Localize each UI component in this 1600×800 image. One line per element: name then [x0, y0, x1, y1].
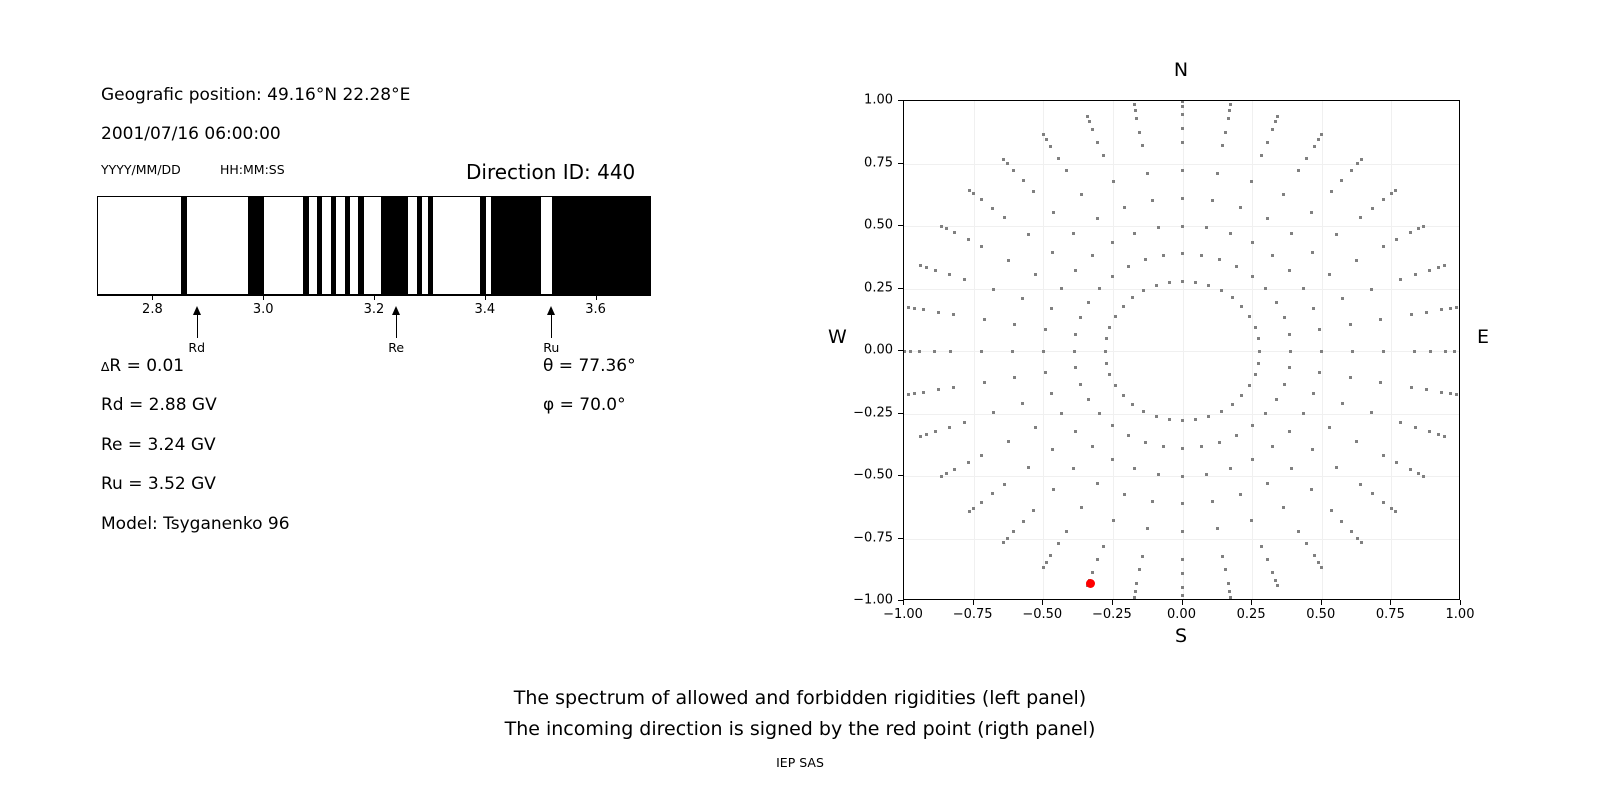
direction-point	[1310, 211, 1313, 214]
direction-point	[922, 391, 925, 394]
direction-point	[963, 278, 966, 281]
direction-point	[1340, 179, 1343, 182]
direction-map-x-tick-label: 1.00	[1446, 607, 1475, 622]
direction-point	[1355, 440, 1358, 443]
direction-point	[1220, 410, 1223, 413]
direction-point	[983, 318, 986, 321]
direction-point	[1181, 475, 1184, 478]
compass-label-north: N	[1174, 59, 1188, 81]
direction-point	[1108, 326, 1111, 329]
direction-point	[1034, 426, 1037, 429]
direction-point	[1318, 328, 1321, 331]
direction-point	[922, 308, 925, 311]
direction-point	[1350, 530, 1353, 533]
direction-point	[1449, 392, 1452, 395]
direction-map-y-tick-label: −1.00	[833, 593, 893, 608]
direction-point	[1021, 297, 1024, 300]
arrow-head-icon	[193, 306, 201, 315]
direction-point	[1181, 558, 1184, 561]
direction-map-y-tick	[898, 538, 903, 539]
direction-point	[1266, 558, 1269, 561]
direction-point	[918, 350, 921, 353]
direction-point	[1360, 541, 1363, 544]
direction-point	[1318, 371, 1321, 374]
direction-point	[1449, 307, 1452, 310]
direction-point	[1274, 120, 1277, 123]
direction-point	[952, 313, 955, 316]
direction-point	[1013, 323, 1016, 326]
direction-point	[992, 411, 995, 414]
direction-point	[1240, 394, 1243, 397]
direction-point	[1320, 133, 1323, 136]
direction-point	[1074, 430, 1077, 433]
direction-point	[1021, 402, 1024, 405]
direction-point	[1275, 301, 1278, 304]
direction-point	[1151, 500, 1154, 503]
direction-point	[1229, 467, 1232, 470]
direction-point	[1194, 281, 1197, 284]
direction-point	[1049, 554, 1052, 557]
direction-point	[1455, 393, 1458, 396]
direction-map-y-tick	[898, 100, 903, 101]
marker-label-re: Re	[388, 340, 404, 355]
direction-point	[1155, 284, 1158, 287]
direction-point	[1162, 254, 1165, 257]
direction-map-x-tick-label: −0.75	[953, 607, 993, 622]
direction-point	[1305, 157, 1308, 160]
direction-point	[919, 435, 922, 438]
direction-point	[1045, 561, 1048, 564]
direction-point	[1288, 333, 1291, 336]
direction-point	[1111, 275, 1114, 278]
direction-point	[1312, 392, 1315, 395]
direction-point	[919, 264, 922, 267]
compass-label-east: E	[1477, 326, 1489, 348]
direction-point	[1141, 555, 1144, 558]
direction-point	[1382, 501, 1385, 504]
direction-point	[1181, 100, 1184, 103]
direction-point	[980, 245, 983, 248]
direction-point	[1271, 571, 1274, 574]
direction-point	[1330, 509, 1333, 512]
direction-point	[1290, 467, 1293, 470]
direction-point	[1251, 458, 1254, 461]
direction-point	[1091, 128, 1094, 131]
direction-point	[1288, 430, 1291, 433]
direction-point	[1194, 418, 1197, 421]
direction-point	[1370, 411, 1373, 414]
direction-point	[1123, 206, 1126, 209]
direction-point	[1138, 568, 1141, 571]
direction-point	[1050, 307, 1053, 310]
direction-map-x-tick	[1390, 600, 1391, 605]
compass-label-south: S	[1175, 625, 1187, 647]
direction-point	[1440, 391, 1443, 394]
direction-point	[1274, 579, 1277, 582]
direction-point	[980, 501, 983, 504]
direction-point	[968, 510, 971, 513]
direction-point	[1350, 169, 1353, 172]
direction-point	[1181, 572, 1184, 575]
direction-point	[1437, 266, 1440, 269]
direction-point	[1168, 418, 1171, 421]
direction-point	[1251, 241, 1254, 244]
direction-point	[1410, 313, 1413, 316]
direction-point	[1105, 337, 1108, 340]
marker-label-rd: Rd	[188, 340, 205, 355]
direction-point	[1034, 273, 1037, 276]
direction-point	[1302, 287, 1305, 290]
direction-point	[1425, 388, 1428, 391]
direction-point	[1133, 467, 1136, 470]
direction-point	[1181, 105, 1184, 108]
direction-point	[1049, 145, 1052, 148]
direction-point	[1181, 252, 1184, 255]
forbidden-band	[331, 197, 337, 294]
vertical-gridline	[1391, 101, 1392, 599]
geographic-position-text: Geografic position: 49.16°N 22.28°E	[101, 85, 410, 105]
footer-text: IEP SAS	[0, 755, 1600, 770]
spectrum-x-tick	[485, 295, 486, 300]
direction-point	[925, 266, 928, 269]
direction-point	[1248, 384, 1251, 387]
param-model: Model: Tsyganenko 96	[101, 514, 290, 534]
spectrum-x-tick	[152, 295, 153, 300]
direction-point	[1181, 225, 1184, 228]
direction-point	[949, 350, 952, 353]
direction-point	[1428, 269, 1431, 272]
direction-point	[1271, 128, 1274, 131]
direction-point	[1074, 366, 1077, 369]
direction-point	[1248, 315, 1251, 318]
spectrum-x-tick-label: 3.4	[474, 302, 495, 317]
direction-point	[903, 350, 906, 353]
direction-point	[1429, 350, 1432, 353]
direction-point	[913, 392, 916, 395]
direction-point	[1044, 328, 1047, 331]
vertical-gridline	[974, 101, 975, 599]
direction-point	[1114, 315, 1117, 318]
figure-canvas: Geografic position: 49.16°N 22.28°E 2001…	[0, 0, 1600, 800]
direction-point	[1032, 190, 1035, 193]
direction-point	[934, 269, 937, 272]
direction-point	[1207, 415, 1210, 418]
direction-point	[1134, 109, 1137, 112]
direction-point	[1260, 545, 1263, 548]
direction-map-y-tick	[898, 475, 903, 476]
direction-point	[1002, 158, 1005, 161]
arrow-head-icon	[547, 306, 555, 315]
direction-point	[1341, 402, 1344, 405]
direction-map-x-tick	[903, 600, 904, 605]
direction-point	[1382, 245, 1385, 248]
direction-point	[1114, 384, 1117, 387]
direction-point	[1276, 584, 1279, 587]
direction-map-y-tick-label: −0.25	[833, 405, 893, 420]
direction-map-x-tick-label: 0.50	[1306, 607, 1335, 622]
direction-point	[1251, 275, 1254, 278]
direction-point	[1320, 566, 1323, 569]
direction-point	[1335, 466, 1338, 469]
param-theta: θ = 77.36°	[543, 356, 636, 376]
direction-point	[1127, 265, 1130, 268]
direction-point	[948, 273, 951, 276]
direction-point	[1453, 350, 1456, 353]
direction-point	[1422, 475, 1425, 478]
direction-point	[907, 306, 910, 309]
direction-point	[1371, 207, 1374, 210]
direction-point	[1032, 509, 1035, 512]
direction-point	[1359, 216, 1362, 219]
direction-map-x-tick	[1321, 600, 1322, 605]
direction-point	[1356, 162, 1359, 165]
direction-point	[1135, 582, 1138, 585]
direction-point	[1328, 426, 1331, 429]
direction-point	[1258, 350, 1261, 353]
direction-map-y-tick-label: 0.25	[833, 280, 893, 295]
direction-point	[1012, 169, 1015, 172]
direction-point	[1313, 145, 1316, 148]
direction-map-x-tick-label: 0.75	[1376, 607, 1405, 622]
direction-point	[1200, 254, 1203, 257]
direction-point	[1111, 458, 1114, 461]
direction-point	[1096, 558, 1099, 561]
direction-map-y-tick	[898, 350, 903, 351]
direction-point	[1080, 193, 1083, 196]
direction-point	[1231, 403, 1234, 406]
direction-point	[1395, 461, 1398, 464]
direction-point	[907, 393, 910, 396]
direction-point	[1003, 216, 1006, 219]
direction-point	[1072, 467, 1075, 470]
direction-point	[1181, 594, 1184, 597]
direction-point	[1399, 278, 1402, 281]
direction-point	[1264, 412, 1267, 415]
direction-point	[1181, 502, 1184, 505]
direction-point	[1216, 527, 1219, 530]
direction-point	[1051, 251, 1054, 254]
direction-point	[1328, 273, 1331, 276]
direction-map-x-tick	[973, 600, 974, 605]
direction-point	[1205, 226, 1208, 229]
spectrum-x-tick	[263, 295, 264, 300]
direction-point	[1409, 231, 1412, 234]
direction-point	[1142, 410, 1145, 413]
direction-point	[1317, 561, 1320, 564]
horizontal-gridline	[904, 164, 1459, 165]
direction-map-x-tick-label: −0.50	[1022, 607, 1062, 622]
horizontal-gridline	[904, 351, 1459, 352]
direction-point	[1181, 530, 1184, 533]
direction-point	[972, 507, 975, 510]
direction-point	[1371, 492, 1374, 495]
direction-point	[1409, 468, 1412, 471]
direction-point	[1227, 117, 1230, 120]
direction-point	[1105, 362, 1108, 365]
marker-arrow-ru	[551, 300, 552, 340]
param-rd: Rd = 2.88 GV	[101, 395, 217, 415]
direction-map-y-tick	[898, 225, 903, 226]
direction-point	[1013, 376, 1016, 379]
spectrum-x-tick	[596, 295, 597, 300]
forbidden-band	[358, 197, 364, 294]
direction-point	[1211, 500, 1214, 503]
direction-point	[1080, 506, 1083, 509]
direction-point	[1108, 373, 1111, 376]
direction-point	[1181, 113, 1184, 116]
direction-point	[1311, 448, 1314, 451]
direction-point	[1288, 366, 1291, 369]
direction-point	[1257, 362, 1260, 365]
vertical-gridline	[1113, 101, 1114, 599]
direction-point	[1221, 144, 1224, 147]
incoming-direction-point	[1086, 579, 1095, 588]
direction-point	[1355, 259, 1358, 262]
direction-point	[1111, 424, 1114, 427]
direction-point	[1444, 350, 1447, 353]
direction-point	[968, 189, 971, 192]
datetime-text: 2001/07/16 06:00:00	[101, 124, 281, 144]
direction-point	[1181, 280, 1184, 283]
direction-point	[1022, 179, 1025, 182]
direction-point	[1127, 434, 1130, 437]
direction-point	[1349, 376, 1352, 379]
param-re: Re = 3.24 GV	[101, 435, 216, 455]
direction-point	[909, 350, 912, 353]
direction-point	[1395, 238, 1398, 241]
direction-point	[1211, 199, 1214, 202]
direction-point	[1138, 131, 1141, 134]
direction-point	[967, 461, 970, 464]
direction-point	[1144, 258, 1147, 261]
direction-point	[1417, 472, 1420, 475]
direction-point	[1052, 488, 1055, 491]
direction-point	[1394, 510, 1397, 513]
direction-point	[1091, 571, 1094, 574]
direction-point	[1073, 350, 1076, 353]
direction-point	[1414, 273, 1417, 276]
direction-point	[1079, 316, 1082, 319]
direction-point	[1091, 445, 1094, 448]
direction-point	[1162, 445, 1165, 448]
direction-point	[953, 231, 956, 234]
direction-map-x-tick-label: 0.25	[1237, 607, 1266, 622]
direction-point	[1382, 198, 1385, 201]
direction-point	[1305, 542, 1308, 545]
direction-point	[1051, 448, 1054, 451]
direction-point	[1111, 241, 1114, 244]
direction-point	[1320, 350, 1323, 353]
direction-point	[1359, 483, 1362, 486]
direction-point	[1112, 180, 1115, 183]
direction-point	[1283, 383, 1286, 386]
compass-label-west: W	[828, 326, 847, 348]
date-format-hint: YYYY/MM/DD	[101, 162, 181, 177]
direction-point	[1228, 109, 1231, 112]
direction-point	[1227, 582, 1230, 585]
direction-point	[1410, 386, 1413, 389]
direction-point	[1370, 288, 1373, 291]
direction-point	[1297, 530, 1300, 533]
direction-point	[1220, 289, 1223, 292]
spectrum-x-tick	[374, 295, 375, 300]
direction-point	[1142, 289, 1145, 292]
direction-point	[1002, 541, 1005, 544]
direction-point	[1382, 454, 1385, 457]
direction-point	[1260, 154, 1263, 157]
direction-point	[1207, 284, 1210, 287]
direction-point	[1157, 226, 1160, 229]
direction-point	[933, 350, 936, 353]
direction-point	[1276, 115, 1279, 118]
direction-point	[1011, 350, 1014, 353]
caption-line-1: The spectrum of allowed and forbidden ri…	[0, 687, 1600, 709]
direction-point	[1027, 233, 1030, 236]
direction-map-y-tick	[898, 163, 903, 164]
direction-point	[1289, 350, 1292, 353]
direction-point	[1088, 120, 1091, 123]
direction-point	[1271, 254, 1274, 257]
direction-point	[1060, 412, 1063, 415]
direction-point	[1098, 287, 1101, 290]
direction-point	[925, 433, 928, 436]
direction-point	[1181, 169, 1184, 172]
direction-point	[1091, 254, 1094, 257]
direction-point	[937, 311, 940, 314]
direction-point	[1027, 466, 1030, 469]
direction-map-y-tick	[898, 288, 903, 289]
direction-point	[952, 386, 955, 389]
direction-point	[1235, 265, 1238, 268]
param-delta-r-value: R = 0.01	[109, 356, 184, 376]
direction-point	[1181, 447, 1184, 450]
direction-point	[1390, 192, 1393, 195]
direction-point	[948, 426, 951, 429]
direction-point	[1042, 566, 1045, 569]
direction-point	[1074, 269, 1077, 272]
forbidden-band	[428, 197, 434, 294]
direction-point	[1422, 225, 1425, 228]
direction-point	[913, 307, 916, 310]
vertical-gridline	[1183, 101, 1184, 599]
direction-point	[1228, 590, 1231, 593]
direction-point	[1079, 383, 1082, 386]
direction-point	[1072, 232, 1075, 235]
direction-point	[1266, 217, 1269, 220]
direction-point	[1302, 412, 1305, 415]
forbidden-band	[417, 197, 423, 294]
forbidden-band	[303, 197, 309, 294]
forbidden-band	[552, 197, 651, 294]
direction-point	[1086, 115, 1089, 118]
direction-map-y-tick-label: 0.50	[833, 218, 893, 233]
marker-arrow-re	[396, 300, 397, 340]
direction-point	[1239, 206, 1242, 209]
direction-point	[1455, 306, 1458, 309]
direction-point	[1146, 172, 1149, 175]
direction-point	[937, 388, 940, 391]
direction-point	[980, 198, 983, 201]
direction-point	[1414, 426, 1417, 429]
direction-point	[1065, 530, 1068, 533]
direction-point	[1098, 412, 1101, 415]
direction-point	[1044, 371, 1047, 374]
direction-point	[1231, 296, 1234, 299]
direction-point	[1310, 488, 1313, 491]
direction-point	[1428, 430, 1431, 433]
direction-point	[1096, 141, 1099, 144]
time-format-hint: HH:MM:SS	[220, 162, 285, 177]
